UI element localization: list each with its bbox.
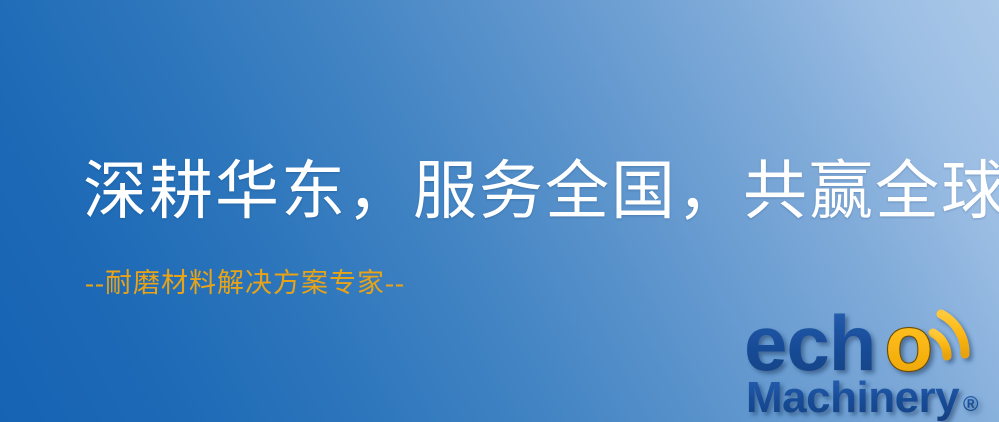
brand-logo[interactable]: ech o Machinery ®: [744, 298, 999, 422]
echo-wave-arcs-icon: [933, 314, 965, 356]
logo-text-machinery: Machinery: [746, 373, 960, 422]
page-title: 深耕华东，服务全国，共赢全球: [83, 152, 999, 232]
page-subtitle: --耐磨材料解决方案专家--: [85, 266, 405, 300]
hero-banner: 深耕华东，服务全国，共赢全球 --耐磨材料解决方案专家--: [0, 0, 999, 422]
logo-trademark-symbol: ®: [963, 393, 979, 416]
